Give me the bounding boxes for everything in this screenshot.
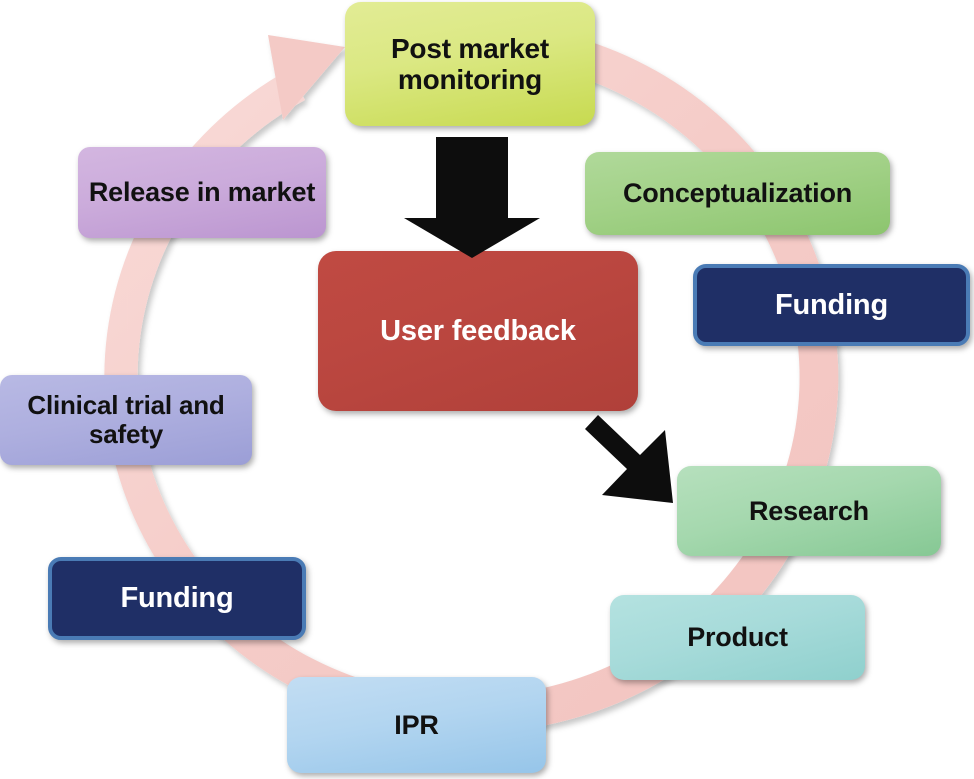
node-research[interactable]: Research [677,466,941,556]
node-user-feedback[interactable]: User feedback [318,251,638,411]
node-conceptualization[interactable]: Conceptualization [585,152,890,235]
arrow-down-icon [404,137,540,258]
arrow-down-right-icon [585,415,673,503]
node-label: User feedback [374,315,582,347]
node-product[interactable]: Product [610,595,865,680]
node-label: IPR [388,710,444,740]
node-clinical-trial-and-safety[interactable]: Clinical trial and safety [0,375,252,465]
node-label: Release in market [83,177,321,207]
node-label: Clinical trial and safety [0,391,252,449]
cycle-diagram-canvas: Post market monitoring Conceptualization… [0,0,974,779]
node-label: Post market monitoring [345,33,595,96]
node-label: Product [681,622,794,652]
node-label: Conceptualization [617,178,858,208]
node-release-in-market[interactable]: Release in market [78,147,326,238]
node-label: Research [743,496,875,526]
node-post-market-monitoring[interactable]: Post market monitoring [345,2,595,126]
node-funding-right[interactable]: Funding [693,264,970,346]
node-label: Funding [115,582,240,614]
node-label: Funding [769,289,894,321]
node-funding-left[interactable]: Funding [48,557,306,640]
node-ipr[interactable]: IPR [287,677,546,773]
